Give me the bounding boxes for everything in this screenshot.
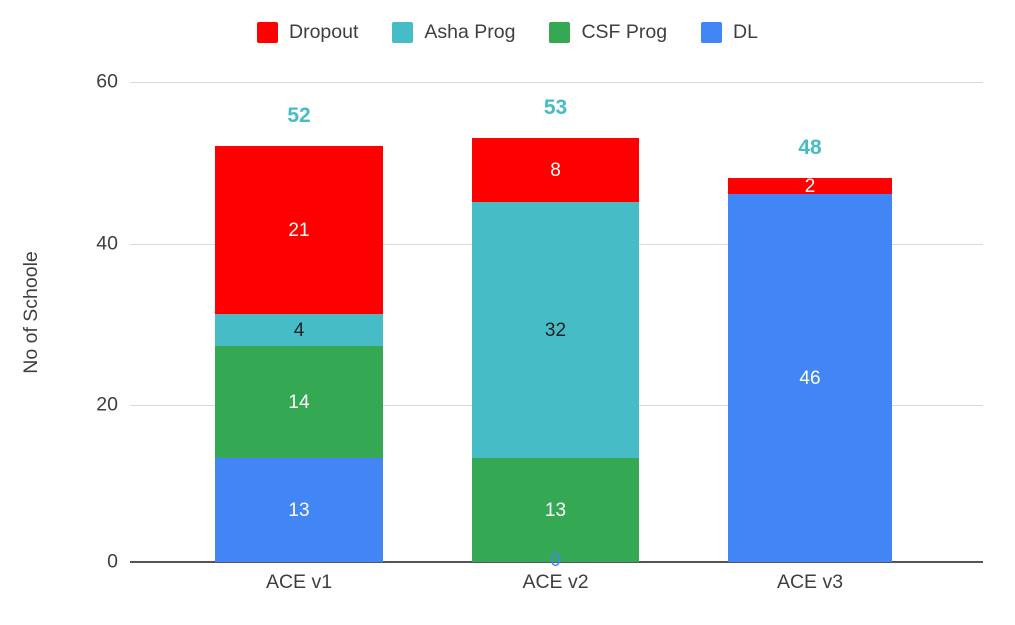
bar-segment-value-ace-v1-csf-prog: 14 (288, 393, 309, 412)
stacked-bar-chart: Dropout Asha Prog CSF Prog DL No of Scho… (0, 0, 1015, 625)
legend-swatch-dropout (257, 22, 278, 43)
bar-group-ace-v1[interactable]: 52 21 4 14 13 (215, 146, 383, 562)
bar-group-ace-v2[interactable]: 53 8 32 13 0 (472, 138, 639, 562)
bar-segment-value-ace-v2-csf-prog: 13 (545, 501, 566, 520)
bar-total-label-ace-v2: 53 (472, 96, 639, 120)
x-tick-ace-v3: ACE v3 (728, 571, 892, 594)
bar-segment-ace-v1-csf-prog[interactable]: 14 (215, 346, 383, 458)
bar-total-label-ace-v1: 52 (215, 104, 383, 128)
legend-swatch-asha-prog (392, 22, 413, 43)
chart-legend: Dropout Asha Prog CSF Prog DL (0, 22, 1015, 43)
legend-item-asha-prog[interactable]: Asha Prog (392, 22, 515, 43)
legend-item-dropout[interactable]: Dropout (257, 22, 358, 43)
bar-segment-value-ace-v2-asha-prog: 32 (545, 321, 566, 340)
bar-segment-value-ace-v1-asha-prog: 4 (294, 321, 305, 340)
bar-segment-ace-v1-dl[interactable]: 13 (215, 458, 383, 562)
x-tick-ace-v1: ACE v1 (215, 571, 383, 594)
bar-segment-ace-v1-asha-prog[interactable]: 4 (215, 314, 383, 346)
bar-segment-value-ace-v2-dropout: 8 (550, 161, 561, 180)
bar-segment-ace-v2-csf-prog[interactable]: 13 (472, 458, 639, 562)
legend-label-csf-prog: CSF Prog (581, 22, 667, 43)
legend-swatch-csf-prog (549, 22, 570, 43)
legend-item-csf-prog[interactable]: CSF Prog (549, 22, 667, 43)
bar-segment-ace-v2-dropout[interactable]: 8 (472, 138, 639, 202)
bar-segment-ace-v3-dl[interactable]: 46 (728, 194, 892, 562)
plot-area: 52 21 4 14 13 53 8 32 13 (130, 82, 983, 562)
bar-zero-label-ace-v2-dl: 0 (472, 550, 639, 572)
bar-segment-value-ace-v3-dl: 46 (799, 369, 820, 388)
y-axis-title: No of Schoole (14, 0, 48, 625)
gridline-60 (130, 82, 983, 83)
bar-segment-ace-v1-dropout[interactable]: 21 (215, 146, 383, 314)
legend-label-asha-prog: Asha Prog (424, 22, 515, 43)
legend-swatch-dl (701, 22, 722, 43)
legend-item-dl[interactable]: DL (701, 22, 758, 43)
legend-label-dl: DL (733, 22, 758, 43)
bar-group-ace-v3[interactable]: 48 2 46 (728, 178, 892, 562)
bar-segment-value-ace-v1-dl: 13 (288, 501, 309, 520)
x-tick-ace-v2: ACE v2 (472, 571, 639, 594)
bar-total-label-ace-v3: 48 (728, 136, 892, 160)
bar-segment-value-ace-v1-dropout: 21 (288, 221, 309, 240)
bar-segment-ace-v3-dropout[interactable]: 2 (728, 178, 892, 194)
bar-segment-ace-v2-asha-prog[interactable]: 32 (472, 202, 639, 458)
bar-segment-value-ace-v3-dropout: 2 (805, 177, 816, 196)
legend-label-dropout: Dropout (289, 22, 358, 43)
y-axis-title-label: No of Schoole (20, 251, 43, 374)
